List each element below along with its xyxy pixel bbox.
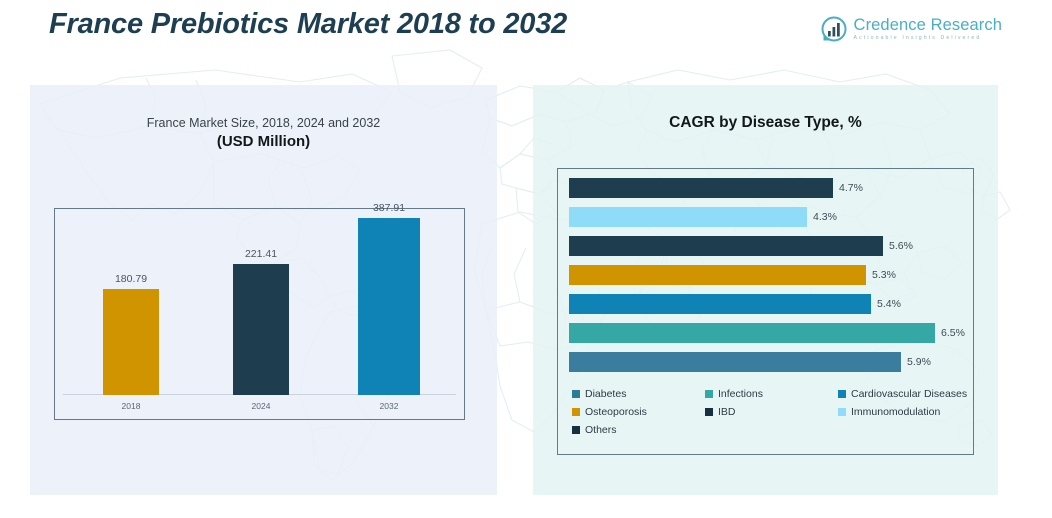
legend-item-others[interactable]: Others xyxy=(572,421,705,439)
cagr-bar-ibd[interactable] xyxy=(569,323,935,343)
cagr-row-immunomodulation: 4.3% xyxy=(569,207,837,227)
market-size-plot-area: 180.79 2018 221.41 2024 387.91 xyxy=(55,209,464,419)
cagr-value-infections: 5.4% xyxy=(877,298,901,310)
legend-swatch-icon xyxy=(705,408,713,416)
market-size-subtitle: France Market Size, 2018, 2024 and 2032 xyxy=(30,116,497,130)
cagr-value-immunomodulation: 4.3% xyxy=(813,211,837,223)
legend-label-ibd: IBD xyxy=(718,406,736,418)
legend-item-diabetes[interactable]: Diabetes xyxy=(572,385,705,403)
cagr-legend: Diabetes Infections Cardiovascular Disea… xyxy=(572,385,972,439)
credence-bar-chart-circle-icon xyxy=(821,16,847,42)
legend-label-others: Others xyxy=(585,424,617,436)
cagr-value-cardiovascular-diseases: 5.6% xyxy=(889,240,913,252)
cagr-title: CAGR by Disease Type, % xyxy=(533,114,998,132)
cagr-value-diabetes: 4.7% xyxy=(839,182,863,194)
bar-label-2018: 2018 xyxy=(103,401,159,411)
cagr-panel: CAGR by Disease Type, % 4.7% 4.3% 5.6% 5 xyxy=(533,85,998,495)
market-size-unit-label: (USD Million) xyxy=(30,133,497,150)
cagr-bar-osteoporosis[interactable] xyxy=(569,265,866,285)
bar-value-2018: 180.79 xyxy=(115,273,147,285)
bar-group-2032: 387.91 2032 xyxy=(358,199,420,395)
legend-swatch-icon xyxy=(572,390,580,398)
legend-label-infections: Infections xyxy=(718,388,763,400)
cagr-chart: 4.7% 4.3% 5.6% 5.3% 5.4% xyxy=(557,168,974,455)
cagr-row-diabetes: 4.7% xyxy=(569,178,863,198)
bar-label-2032: 2032 xyxy=(358,401,420,411)
cagr-bars-area: 4.7% 4.3% 5.6% 5.3% 5.4% xyxy=(569,178,964,379)
bar-value-2024: 221.41 xyxy=(245,248,277,260)
legend-item-infections[interactable]: Infections xyxy=(705,385,838,403)
legend-label-osteoporosis: Osteoporosis xyxy=(585,406,647,418)
bar-2018[interactable] xyxy=(103,289,159,395)
page-title: France Prebiotics Market 2018 to 2032 xyxy=(49,8,567,41)
bar-label-2024: 2024 xyxy=(233,401,289,411)
cagr-bar-immunomodulation[interactable] xyxy=(569,207,807,227)
bar-group-2024: 221.41 2024 xyxy=(233,245,289,395)
legend-swatch-icon xyxy=(838,408,846,416)
logo-brand-name: Credence Research xyxy=(854,17,1002,34)
cagr-bar-infections[interactable] xyxy=(569,294,871,314)
legend-item-cardiovascular-diseases[interactable]: Cardiovascular Diseases xyxy=(838,385,972,403)
cagr-row-ibd: 6.5% xyxy=(569,323,965,343)
cagr-bar-diabetes[interactable] xyxy=(569,178,833,198)
legend-label-cardiovascular-diseases: Cardiovascular Diseases xyxy=(851,388,967,400)
bar-value-2032: 387.91 xyxy=(373,202,405,214)
legend-swatch-icon xyxy=(705,390,713,398)
legend-label-diabetes: Diabetes xyxy=(585,388,626,400)
bar-2024[interactable] xyxy=(233,264,289,395)
legend-swatch-icon xyxy=(838,390,846,398)
cagr-value-osteoporosis: 5.3% xyxy=(872,269,896,281)
legend-item-immunomodulation[interactable]: Immunomodulation xyxy=(838,403,972,421)
market-size-chart: 180.79 2018 221.41 2024 387.91 xyxy=(54,208,465,420)
cagr-row-osteoporosis: 5.3% xyxy=(569,265,896,285)
cagr-row-infections: 5.4% xyxy=(569,294,901,314)
infographic-page: France Prebiotics Market 2018 to 2032 Cr… xyxy=(0,0,1052,518)
legend-swatch-icon xyxy=(572,408,580,416)
cagr-row-others: 5.9% xyxy=(569,352,931,372)
legend-swatch-icon xyxy=(572,426,580,434)
cagr-value-ibd: 6.5% xyxy=(941,327,965,339)
legend-item-osteoporosis[interactable]: Osteoporosis xyxy=(572,403,705,421)
bar-2032[interactable] xyxy=(358,218,420,395)
market-size-panel: France Market Size, 2018, 2024 and 2032 … xyxy=(30,85,497,495)
cagr-bar-cardiovascular-diseases[interactable] xyxy=(569,236,883,256)
logo-text-block: Credence Research Actionable Insights De… xyxy=(854,17,1002,42)
bar-group-2018: 180.79 2018 xyxy=(103,270,159,395)
cagr-bar-others[interactable] xyxy=(569,352,901,372)
legend-item-ibd[interactable]: IBD xyxy=(705,403,838,421)
legend-label-immunomodulation: Immunomodulation xyxy=(851,406,940,418)
logo-tagline: Actionable Insights Delivered xyxy=(854,36,1002,41)
cagr-value-others: 5.9% xyxy=(907,356,931,368)
brand-logo: Credence Research Actionable Insights De… xyxy=(821,16,1002,42)
cagr-row-cardiovascular-diseases: 5.6% xyxy=(569,236,913,256)
